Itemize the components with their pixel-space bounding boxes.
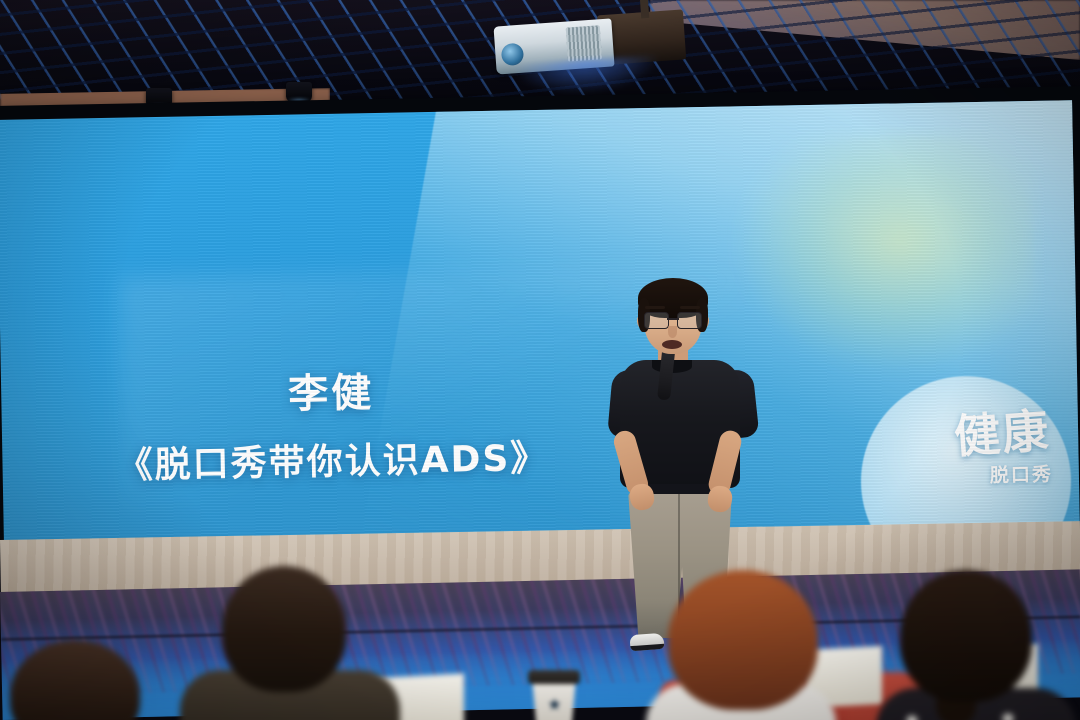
stage-light-icon [286,82,312,102]
logo-main-text: 健康 [952,394,1052,467]
speaker-mouth [662,340,682,349]
audience-member [880,576,1080,720]
led-screen-frame: 李健 《脱口秀带你认识ADS》 健康 脱口秀 [0,86,1080,558]
logo-sub-text: 脱口秀 [990,460,1053,488]
speaker-brow-left [645,306,665,309]
audience-member [0,640,160,720]
audience-head [222,566,346,692]
audience-head [668,570,818,710]
projector-icon [493,9,687,80]
audience-head [10,640,140,720]
projector-arm [640,0,649,18]
audience-member [640,572,840,720]
audience-head [900,570,1032,702]
glasses-lens-left [644,312,669,329]
projector-lens-icon [501,43,524,66]
cup-lid [528,670,580,684]
coffee-cup [528,664,580,720]
speaker-nose [668,326,677,338]
presentation-scene-photo: 李健 《脱口秀带你认识ADS》 健康 脱口秀 [0,0,1080,720]
speaker-brow-right [680,306,700,309]
cup-body [532,678,576,720]
audience-member [190,566,380,720]
slide-glow [733,131,1037,376]
presentation-slide: 李健 《脱口秀带你认识ADS》 健康 脱口秀 [0,100,1080,544]
glasses-lens-right [677,312,702,329]
glasses-bridge [667,318,679,320]
projector-vent [566,25,602,61]
glasses-icon [644,312,702,327]
